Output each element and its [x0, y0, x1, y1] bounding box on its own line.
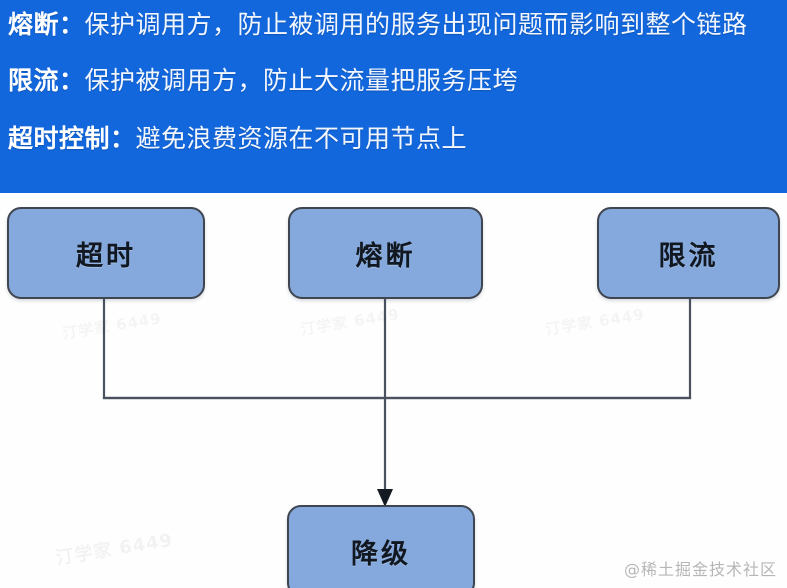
node-circuit-breaker-label: 熔断 [356, 234, 416, 273]
banner-desc-timeout-control: 避免浪费资源在不可用节点上 [136, 124, 468, 153]
slide-screenshot: 熔断：保护调用方，防止被调用的服务出现问题而影响到整个链路 限流：保护被调用方，… [0, 0, 787, 588]
watermark-tile: 汀学家 6449 [544, 303, 646, 339]
banner-keyword-circuit-breaker: 熔断 [8, 10, 59, 39]
banner-separator-0: ： [59, 10, 85, 39]
definition-banner: 熔断：保护调用方，防止被调用的服务出现问题而影响到整个链路 限流：保护被调用方，… [0, 0, 787, 193]
banner-line-timeout-control: 超时控制：避免浪费资源在不可用节点上 [8, 124, 467, 154]
watermark-tile: 汀学家 6449 [299, 303, 401, 339]
banner-separator-1: ： [59, 66, 85, 95]
banner-keyword-rate-limit: 限流 [8, 66, 59, 95]
banner-separator-2: ： [110, 124, 136, 153]
node-rate-limit[interactable]: 限流 [597, 207, 780, 299]
node-timeout[interactable]: 超时 [7, 207, 205, 299]
brand-watermark: @稀土掘金技术社区 [624, 556, 777, 580]
node-circuit-breaker[interactable]: 熔断 [288, 207, 483, 299]
banner-line-circuit-breaker: 熔断：保护调用方，防止被调用的服务出现问题而影响到整个链路 [8, 10, 748, 40]
watermark-tile: 汀学家 6449 [61, 307, 163, 343]
banner-keyword-timeout-control: 超时控制 [8, 124, 110, 153]
node-timeout-label: 超时 [76, 234, 136, 273]
watermark-tile: 汀学家 6449 [54, 526, 175, 570]
node-degrade-label: 降级 [351, 532, 411, 571]
banner-line-rate-limit: 限流：保护被调用方，防止大流量把服务压垮 [8, 66, 518, 96]
flow-diagram: 超时 熔断 限流 降级 汀学家 6449 汀学家 6449 汀学家 6449 汀… [0, 193, 787, 588]
node-rate-limit-label: 限流 [659, 234, 719, 273]
banner-desc-circuit-breaker: 保护调用方，防止被调用的服务出现问题而影响到整个链路 [85, 10, 748, 39]
node-degrade[interactable]: 降级 [287, 505, 475, 588]
banner-desc-rate-limit: 保护被调用方，防止大流量把服务压垮 [85, 66, 519, 95]
